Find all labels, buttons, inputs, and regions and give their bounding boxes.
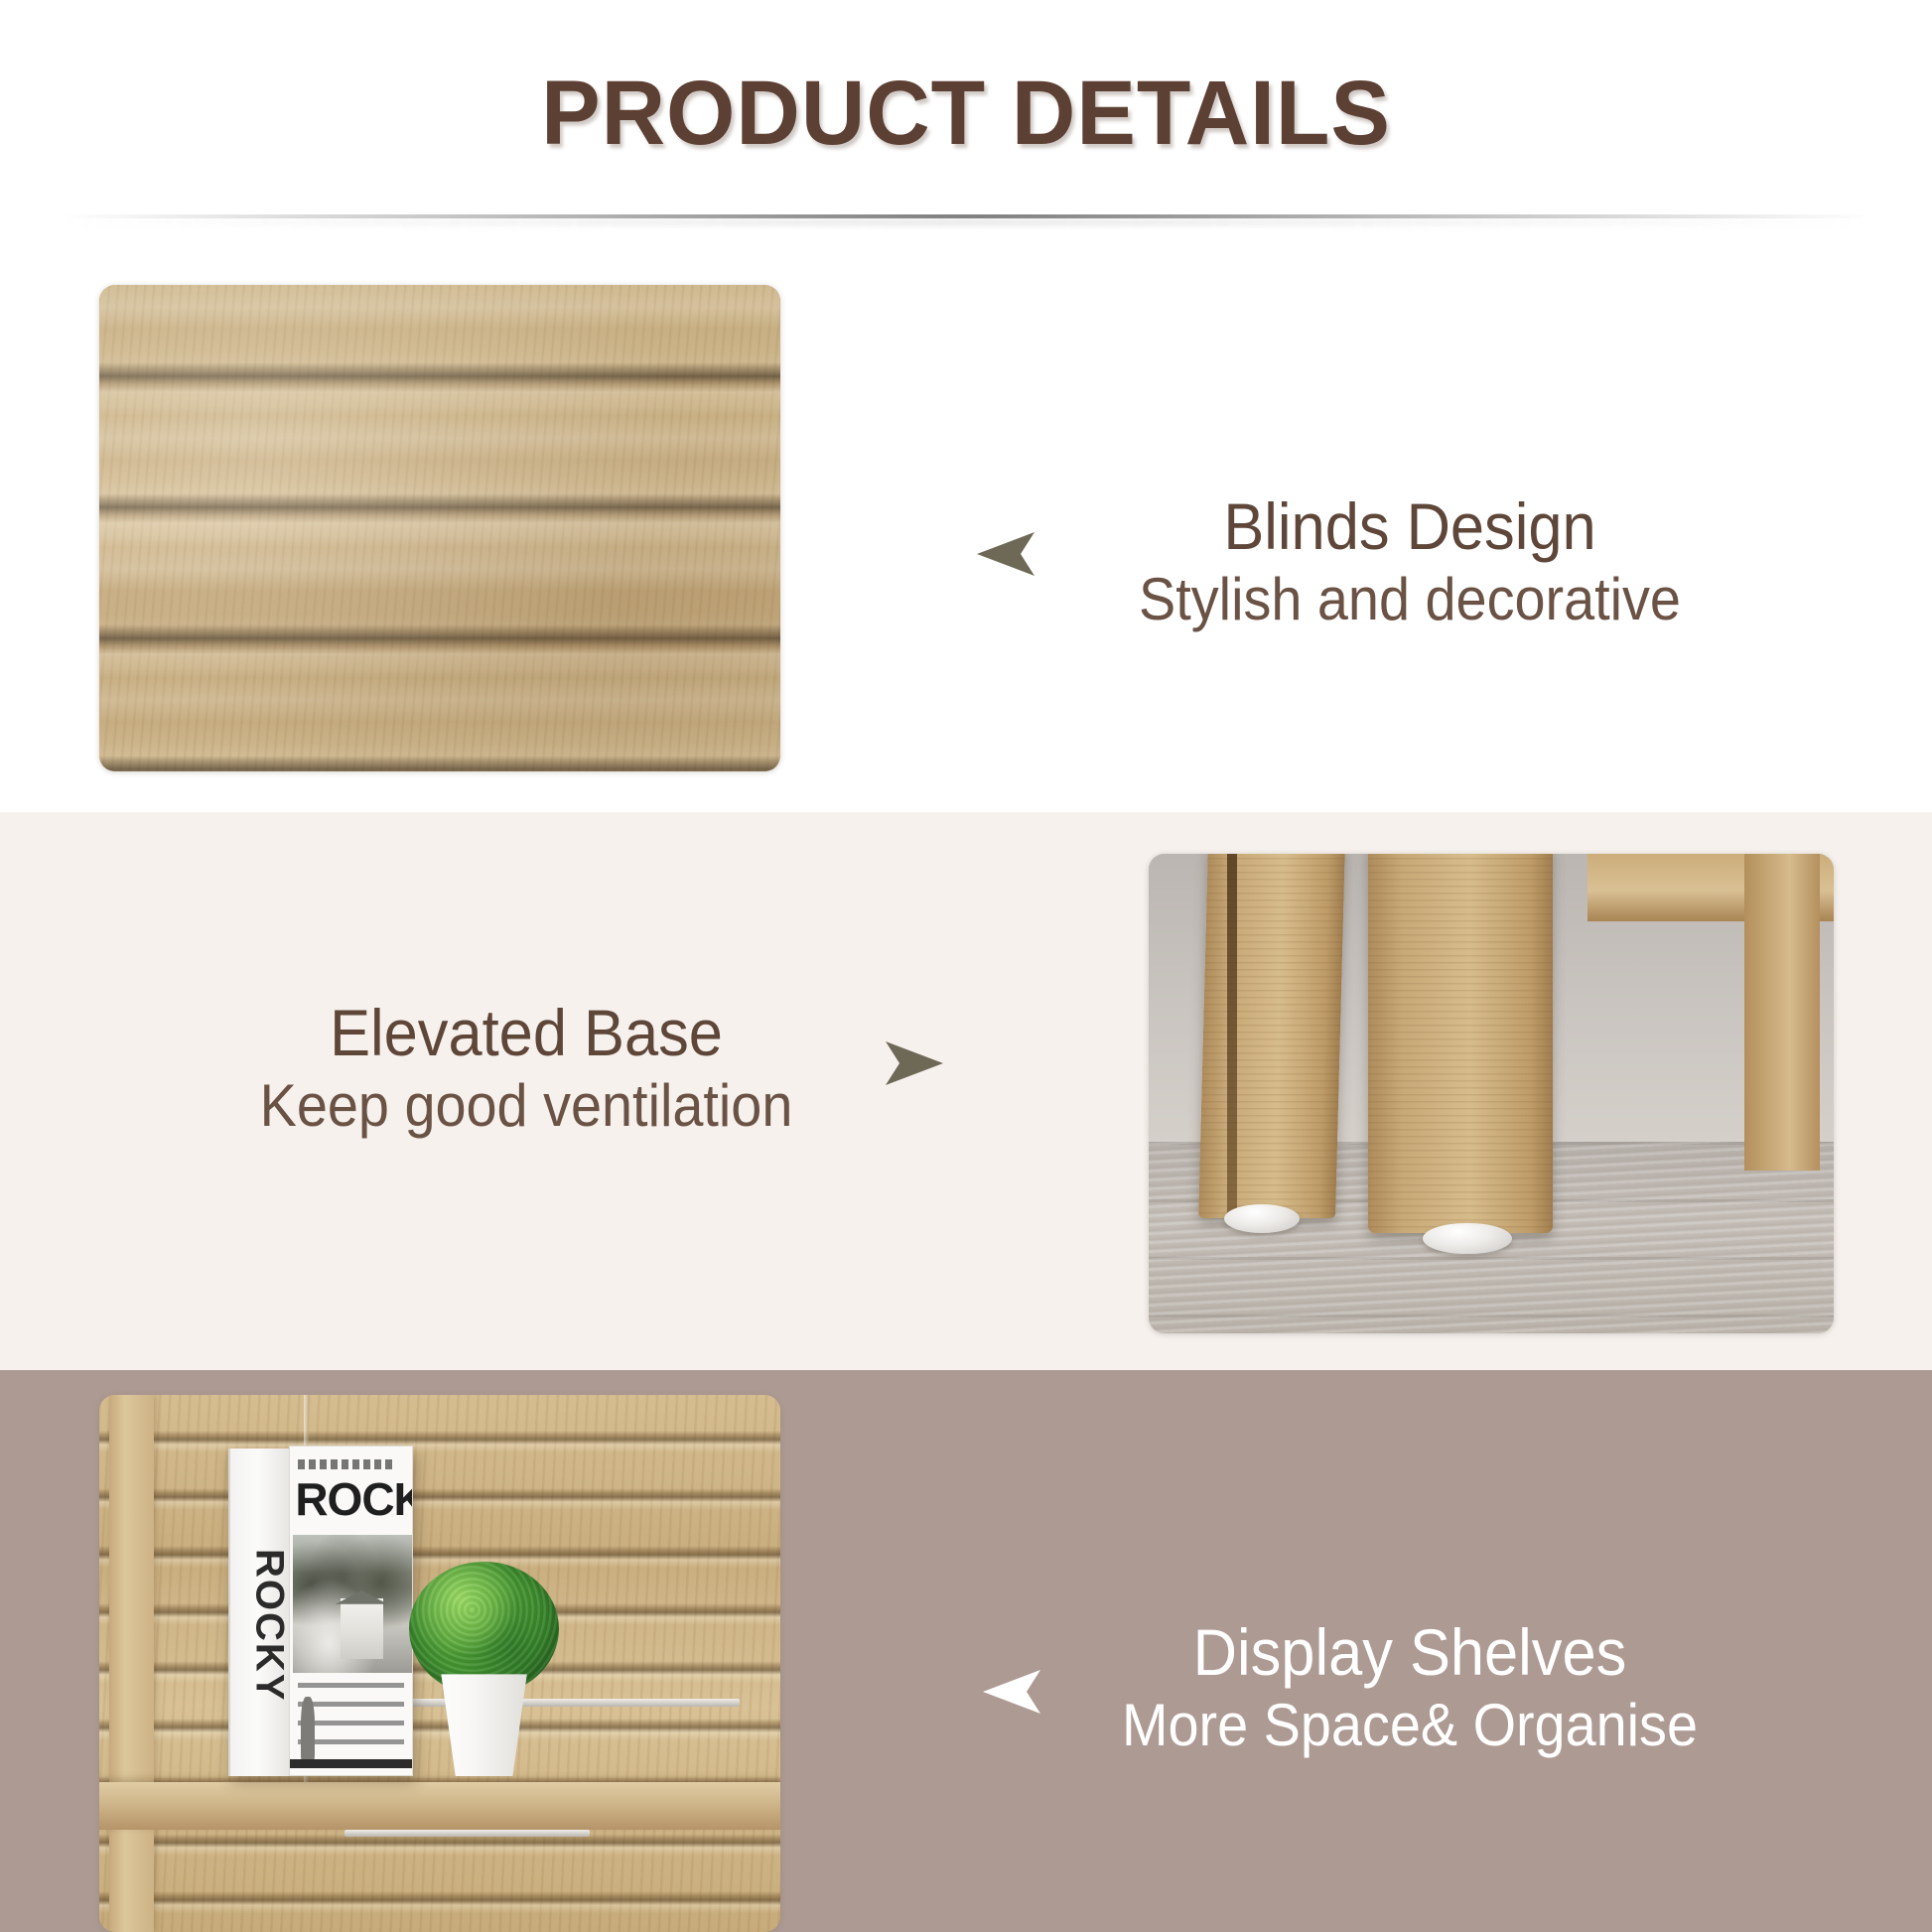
cabinet-leg-left	[1198, 854, 1345, 1218]
book-cover-kicker-text	[298, 1459, 395, 1469]
shelf-metal-edge-upper	[371, 1699, 739, 1707]
shelf-board	[99, 1782, 780, 1831]
decorative-book: ROCKY ROCKY	[228, 1449, 412, 1776]
title-divider-shadow	[62, 218, 1870, 226]
book-cover-footer-bar	[290, 1759, 411, 1769]
page-title: PRODUCT DETAILS	[29, 62, 1903, 166]
caption-subtitle-display-shelves: More Space& Organise	[1032, 1691, 1789, 1760]
caption-title-elevated-base: Elevated Base	[157, 995, 896, 1071]
caption-title-blinds-design: Blinds Design	[1040, 488, 1779, 565]
wood-slat-texture	[99, 285, 780, 771]
photo-display-shelves: ROCKY ROCKY	[99, 1395, 780, 1932]
caption-elevated-base: Elevated Base Keep good ventilation	[129, 995, 923, 1140]
book-cover-photo-house	[341, 1598, 383, 1659]
arrow-right-icon-elevated-base	[884, 1039, 945, 1087]
book-cover: ROCKY	[289, 1446, 412, 1776]
plastic-foot-right	[1423, 1223, 1512, 1254]
book-cover-figure	[301, 1697, 314, 1762]
book-spine-title: ROCKY	[230, 1468, 291, 1756]
book-cover-photo	[293, 1535, 412, 1673]
cabinet-leg-right	[1368, 854, 1553, 1233]
product-details-page: PRODUCT DETAILS Blinds Design Stylish an…	[0, 0, 1932, 1932]
cabinet-leg-left-edge	[1227, 854, 1237, 1218]
caption-subtitle-blinds-design: Stylish and decorative	[1040, 565, 1779, 634]
caption-subtitle-elevated-base: Keep good ventilation	[157, 1071, 896, 1141]
photo-elevated-base	[1149, 854, 1834, 1333]
book-spine: ROCKY	[228, 1449, 291, 1776]
leg-and-floor-scene	[1149, 854, 1834, 1333]
caption-title-display-shelves: Display Shelves	[1032, 1614, 1789, 1691]
book-cover-title: ROCKY	[295, 1476, 409, 1522]
shelf-metal-edge-lower	[345, 1830, 590, 1837]
photo-blinds-design	[99, 285, 780, 771]
cabinet-rear-post	[1744, 854, 1820, 1171]
shelf-frame-stile	[109, 1395, 154, 1932]
caption-display-shelves: Display Shelves More Space& Organise	[1003, 1614, 1817, 1759]
shelf-scene: ROCKY ROCKY	[99, 1395, 780, 1932]
caption-blinds-design: Blinds Design Stylish and decorative	[1013, 488, 1807, 633]
book-cover-photo-roof	[336, 1590, 388, 1604]
plastic-foot-left	[1224, 1204, 1300, 1233]
